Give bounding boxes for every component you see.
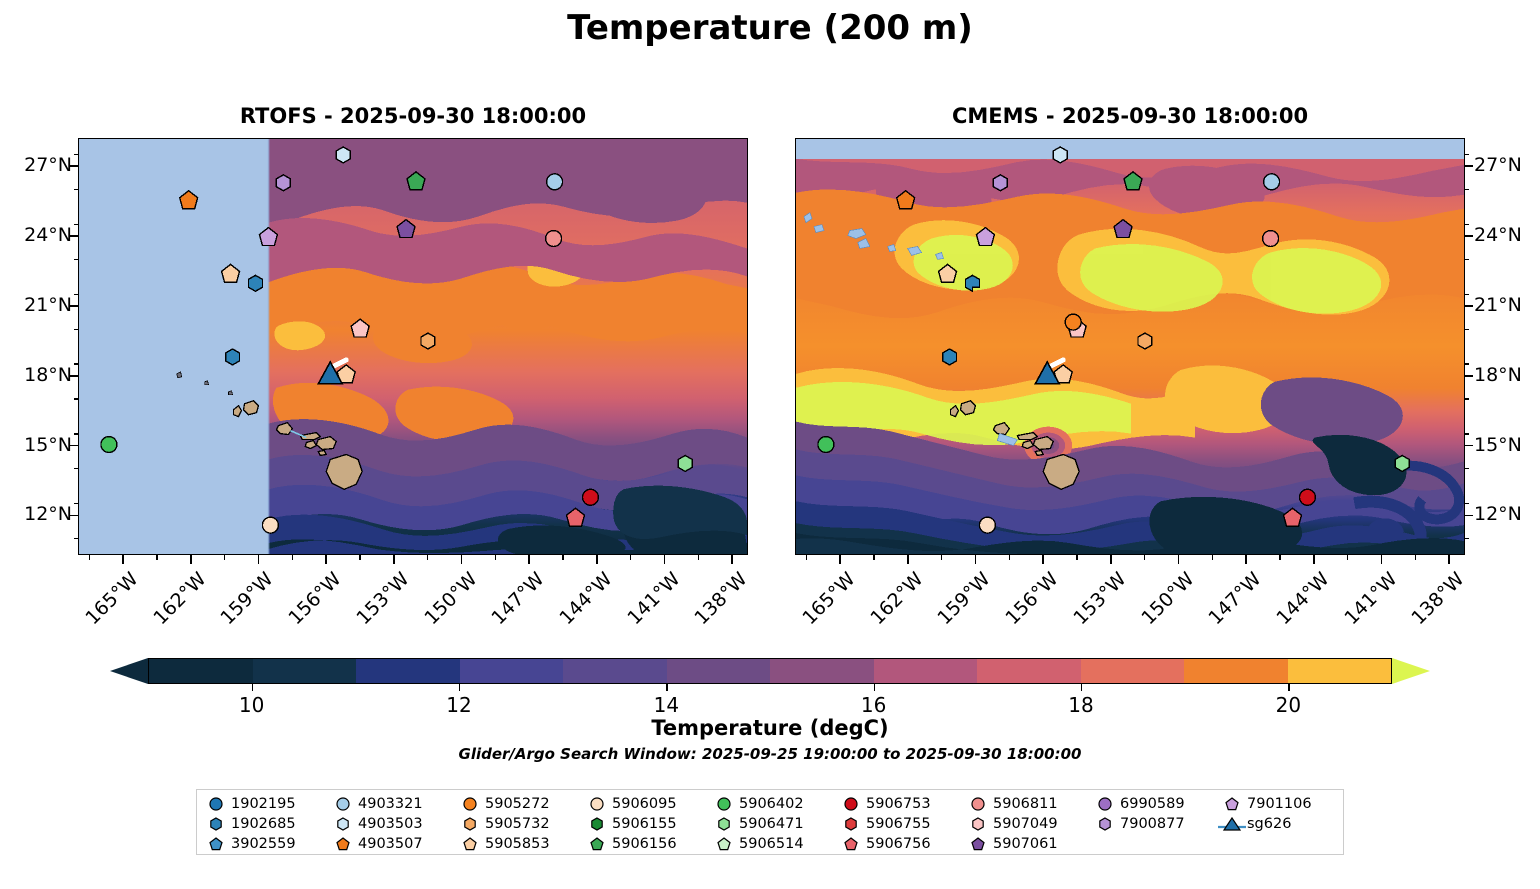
colorbar-over-arrow [1392, 658, 1430, 684]
legend-item-5905853[interactable]: 5905853 [455, 834, 582, 854]
rtofs-field [79, 139, 747, 554]
legend-marker-hexagon-icon [709, 814, 739, 834]
marker-5905732 [421, 333, 435, 349]
marker-5906811 [1263, 231, 1279, 247]
legend-label-5906514: 5906514 [739, 836, 804, 852]
colorbar-tick-1 [459, 684, 460, 691]
legend-label-5906402: 5906402 [739, 796, 804, 812]
ytick-minor-r [1465, 224, 1469, 225]
xtick-label-1-3: 156°W [976, 568, 1062, 654]
legend-marker-pentagon-icon [582, 834, 612, 854]
colorbar-band-4 [563, 659, 667, 683]
legend-item-empty [1217, 834, 1344, 854]
xtick-label-0-4: 153°W [327, 568, 413, 654]
xtick-1-1 [907, 555, 909, 564]
marker-5906095 [262, 517, 278, 533]
map-panel-cmems[interactable] [795, 138, 1465, 555]
colorbar-band-10 [1184, 659, 1288, 683]
legend-item-5906095[interactable]: 5906095 [582, 794, 709, 814]
cmems-nodata-strip [796, 139, 1464, 159]
map-panel-rtofs[interactable] [78, 138, 748, 555]
xtick-minor [1009, 555, 1010, 560]
xtick-label-0-3: 156°W [259, 568, 345, 654]
legend-label-3902559: 3902559 [231, 836, 296, 852]
legend-grid: 1902195490332159052725906095590640259067… [201, 794, 1344, 854]
ytick-left-5 [70, 515, 78, 517]
xtick-minor [1246, 555, 1247, 560]
legend-label-5906755: 5906755 [866, 816, 931, 832]
legend-item-sg626[interactable]: sg626 [1217, 814, 1344, 834]
xtick-0-7 [596, 555, 598, 564]
legend-item-5906155[interactable]: 5906155 [582, 814, 709, 834]
legend-label-5906156: 5906156 [612, 836, 677, 852]
xtick-minor [732, 555, 733, 560]
legend-marker-pentagon-icon [836, 834, 866, 854]
xtick-minor [495, 555, 496, 560]
legend-item-6990589[interactable]: 6990589 [1090, 794, 1217, 814]
marker-5905272 [1065, 314, 1081, 330]
xtick-minor [630, 555, 631, 560]
ytick-right-0 [1465, 165, 1473, 167]
legend-label-4903507: 4903507 [358, 836, 423, 852]
marker-7900877 [276, 175, 290, 191]
ytick-minor-r [1465, 398, 1469, 399]
ytick-label-right-2: 21°N [1474, 294, 1540, 316]
colorbar-tick-5 [1288, 684, 1289, 691]
legend-marker-circle-icon [963, 794, 993, 814]
xtick-1-0 [839, 555, 841, 564]
xtick-minor [393, 555, 394, 560]
legend-item-5906755[interactable]: 5906755 [836, 814, 963, 834]
legend-marker-circle-icon [201, 794, 231, 814]
xtick-label-0-6: 147°W [462, 568, 548, 654]
legend-item-5906811[interactable]: 5906811 [963, 794, 1090, 814]
ytick-right-2 [1465, 305, 1473, 307]
legend-label-5907049: 5907049 [993, 816, 1058, 832]
marker-1902195 [226, 349, 240, 365]
ytick-right-4 [1465, 445, 1473, 447]
legend-marker-pentagon-icon [1217, 794, 1247, 814]
xtick-label-0-9: 138°W [665, 568, 751, 654]
colorbar-tick-label-3: 16 [844, 693, 904, 717]
colorbar-band-6 [770, 659, 874, 683]
legend-label-7900877: 7900877 [1120, 816, 1185, 832]
legend-item-empty [1090, 834, 1217, 854]
float-legend[interactable]: 1902195490332159052725906095590640259067… [196, 789, 1344, 855]
xtick-minor [907, 555, 908, 560]
marker-5906753 [1299, 489, 1315, 505]
ytick-label-left-4: 15°N [0, 434, 72, 456]
legend-label-1902685: 1902685 [231, 816, 296, 832]
ytick-minor-r [1465, 154, 1469, 155]
legend-item-5906753[interactable]: 5906753 [836, 794, 963, 814]
xtick-label-0-1: 162°W [124, 568, 210, 654]
ytick-minor-r [1465, 329, 1469, 330]
xtick-0-8 [664, 555, 666, 564]
xtick-minor [359, 555, 360, 560]
xtick-minor [1415, 555, 1416, 560]
xtick-minor [89, 555, 90, 560]
xtick-minor [1313, 555, 1314, 560]
ytick-label-left-3: 18°N [0, 364, 72, 386]
ytick-label-right-4: 15°N [1474, 434, 1540, 456]
xtick-0-0 [122, 555, 124, 564]
ytick-left-4 [70, 445, 78, 447]
ytick-label-right-1: 24°N [1474, 224, 1540, 246]
legend-marker-hexagon-icon [455, 814, 485, 834]
marker-5906095 [979, 517, 995, 533]
search-window-caption: Glider/Argo Search Window: 2025-09-25 19… [0, 745, 1540, 763]
colorbar-band-5 [667, 659, 771, 683]
xtick-minor [1043, 555, 1044, 560]
legend-marker-hexagon-icon [1090, 814, 1120, 834]
legend-item-7901106[interactable]: 7901106 [1217, 794, 1344, 814]
xtick-label-0-8: 141°W [598, 568, 684, 654]
xtick-minor [258, 555, 259, 560]
legend-item-5906514[interactable]: 5906514 [709, 834, 836, 854]
ytick-minor-r [1465, 363, 1469, 364]
marker-1902685 [248, 275, 262, 291]
xtick-1-2 [975, 555, 977, 564]
cmems-field [796, 139, 1464, 554]
figure-title: Temperature (200 m) [0, 8, 1540, 48]
ytick-minor-r [1465, 433, 1469, 434]
xtick-label-1-9: 138°W [1382, 568, 1468, 654]
legend-marker-hexagon-icon [582, 814, 612, 834]
xtick-label-1-2: 159°W [909, 568, 995, 654]
legend-marker-circle-icon [582, 794, 612, 814]
ytick-minor-r [1465, 189, 1469, 190]
ytick-right-1 [1465, 235, 1473, 237]
ytick-label-left-2: 21°N [0, 294, 72, 316]
xtick-label-1-4: 153°W [1044, 568, 1130, 654]
xtick-label-0-0: 165°W [56, 568, 142, 654]
xtick-minor [975, 555, 976, 560]
legend-marker-hexagon-icon [836, 814, 866, 834]
legend-item-4903321[interactable]: 4903321 [328, 794, 455, 814]
xtick-minor [224, 555, 225, 560]
xtick-minor [1178, 555, 1179, 560]
xtick-minor [427, 555, 428, 560]
legend-label-1902195: 1902195 [231, 796, 296, 812]
legend-label-4903503: 4903503 [358, 816, 423, 832]
xtick-1-9 [1448, 555, 1450, 564]
legend-item-5906756[interactable]: 5906756 [836, 834, 963, 854]
xtick-minor [806, 555, 807, 560]
xtick-minor [698, 555, 699, 560]
legend-marker-pentagon-icon [709, 834, 739, 854]
legend-label-5906753: 5906753 [866, 796, 931, 812]
xtick-minor [873, 555, 874, 560]
ytick-left-3 [70, 375, 78, 377]
legend-marker-hexagon-icon [328, 814, 358, 834]
colorbar-band-9 [1081, 659, 1185, 683]
colorbar-bands [148, 658, 1392, 684]
legend-marker-pentagon-icon [963, 834, 993, 854]
xtick-label-1-7: 144°W [1247, 568, 1333, 654]
ytick-label-right-3: 18°N [1474, 364, 1540, 386]
xtick-label-0-5: 150°W [395, 568, 481, 654]
legend-label-7901106: 7901106 [1247, 796, 1312, 812]
xtick-0-5 [461, 555, 463, 564]
xtick-minor [664, 555, 665, 560]
xtick-minor [840, 555, 841, 560]
xtick-minor [562, 555, 563, 560]
legend-marker-circle-icon [709, 794, 739, 814]
marker-1902195 [943, 349, 957, 365]
marker-5906753 [582, 489, 598, 505]
colorbar-band-7 [874, 659, 978, 683]
legend-item-5905732[interactable]: 5905732 [455, 814, 582, 834]
xtick-label-1-5: 150°W [1112, 568, 1198, 654]
xtick-label-0-2: 159°W [192, 568, 278, 654]
colorbar-band-8 [977, 659, 1081, 683]
marker-7900877 [993, 175, 1007, 191]
marker-4903321 [1264, 174, 1280, 190]
legend-marker-pentagon-icon [201, 834, 231, 854]
xtick-0-9 [731, 555, 733, 564]
legend-item-5906156[interactable]: 5906156 [582, 834, 709, 854]
legend-label-5906756: 5906756 [866, 836, 931, 852]
marker-5906471 [1395, 455, 1409, 471]
marker-5906471 [678, 455, 692, 471]
ytick-left-2 [70, 305, 78, 307]
xtick-minor [1347, 555, 1348, 560]
xtick-label-1-1: 162°W [841, 568, 927, 654]
ytick-minor-r [1465, 259, 1469, 260]
colorbar-under-arrow [110, 658, 148, 684]
legend-item-4903503[interactable]: 4903503 [328, 814, 455, 834]
ytick-label-right-5: 12°N [1474, 503, 1540, 525]
xtick-minor [326, 555, 327, 560]
ytick-left-0 [70, 165, 78, 167]
ytick-label-left-1: 24°N [0, 224, 72, 246]
colorbar-tick-4 [1081, 684, 1082, 691]
colorbar-band-11 [1288, 659, 1392, 683]
legend-marker-pentagon-icon [328, 834, 358, 854]
ytick-minor-r [1465, 294, 1469, 295]
legend-item-1902685[interactable]: 1902685 [201, 814, 328, 834]
ytick-label-left-5: 12°N [0, 503, 72, 525]
xtick-label-0-7: 144°W [530, 568, 616, 654]
xtick-label-1-6: 147°W [1179, 568, 1265, 654]
legend-item-5907061[interactable]: 5907061 [963, 834, 1090, 854]
colorbar-tick-3 [874, 684, 875, 691]
legend-item-5907049[interactable]: 5907049 [963, 814, 1090, 834]
xtick-minor [1212, 555, 1213, 560]
xtick-0-2 [258, 555, 260, 564]
xtick-1-4 [1110, 555, 1112, 564]
legend-label-5905853: 5905853 [485, 836, 550, 852]
marker-4903503 [1053, 147, 1067, 163]
legend-item-5905272[interactable]: 5905272 [455, 794, 582, 814]
legend-label-5906471: 5906471 [739, 816, 804, 832]
xtick-minor [461, 555, 462, 560]
xtick-minor [123, 555, 124, 560]
colorbar-tick-label-5: 20 [1258, 693, 1318, 717]
panel-title-rtofs: RTOFS - 2025-09-30 18:00:00 [78, 104, 748, 128]
xtick-minor [1110, 555, 1111, 560]
marker-5906811 [546, 231, 562, 247]
legend-marker-circle-icon [455, 794, 485, 814]
xtick-label-1-0: 165°W [773, 568, 859, 654]
legend-marker-hexagon-icon [963, 814, 993, 834]
legend-item-3902559[interactable]: 3902559 [201, 834, 328, 854]
ytick-label-left-0: 27°N [0, 154, 72, 176]
xtick-minor [292, 555, 293, 560]
xtick-minor [156, 555, 157, 560]
colorbar-tick-label-0: 10 [222, 693, 282, 717]
legend-item-5906402[interactable]: 5906402 [709, 794, 836, 814]
legend-label-4903321: 4903321 [358, 796, 423, 812]
ytick-right-5 [1465, 515, 1473, 517]
xtick-minor [1449, 555, 1450, 560]
legend-label-5905272: 5905272 [485, 796, 550, 812]
legend-label-sg626: sg626 [1247, 816, 1291, 832]
xtick-minor [529, 555, 530, 560]
colorbar-tick-2 [666, 684, 667, 691]
legend-marker-hexagon-icon [201, 814, 231, 834]
colorbar-tick-label-4: 18 [1051, 693, 1111, 717]
ytick-minor-r [1465, 538, 1469, 539]
legend-label-5906155: 5906155 [612, 816, 677, 832]
legend-label-5905732: 5905732 [485, 816, 550, 832]
panel-title-cmems: CMEMS - 2025-09-30 18:00:00 [795, 104, 1465, 128]
colorbar[interactable]: 101214161820 [110, 658, 1430, 684]
xtick-minor [1381, 555, 1382, 560]
colorbar-band-3 [460, 659, 564, 683]
xtick-0-1 [190, 555, 192, 564]
colorbar-tick-label-1: 12 [429, 693, 489, 717]
ytick-left-1 [70, 235, 78, 237]
xtick-1-8 [1381, 555, 1383, 564]
marker-4903503 [336, 147, 350, 163]
marker-5905732 [1138, 333, 1152, 349]
legend-item-5906471[interactable]: 5906471 [709, 814, 836, 834]
marker-5906402 [818, 437, 834, 453]
colorbar-tick-0 [252, 684, 253, 691]
legend-item-7900877[interactable]: 7900877 [1090, 814, 1217, 834]
xtick-0-3 [325, 555, 327, 564]
ytick-minor-r [1465, 503, 1469, 504]
legend-marker-circle-icon [1090, 794, 1120, 814]
colorbar-tick-label-2: 14 [636, 693, 696, 717]
legend-marker-circle-icon [836, 794, 866, 814]
xtick-label-1-8: 141°W [1315, 568, 1401, 654]
legend-label-5907061: 5907061 [993, 836, 1058, 852]
legend-marker-circle-icon [328, 794, 358, 814]
legend-item-4903507[interactable]: 4903507 [328, 834, 455, 854]
xtick-minor [190, 555, 191, 560]
ytick-label-right-0: 27°N [1474, 154, 1540, 176]
marker-4903321 [547, 174, 563, 190]
xtick-1-6 [1245, 555, 1247, 564]
legend-label-5906811: 5906811 [993, 796, 1058, 812]
legend-marker-pentagon-icon [455, 834, 485, 854]
legend-label-6990589: 6990589 [1120, 796, 1185, 812]
colorbar-band-2 [356, 659, 460, 683]
xtick-0-6 [528, 555, 530, 564]
legend-marker-triangle-icon [1217, 814, 1247, 834]
ytick-right-3 [1465, 375, 1473, 377]
colorbar-band-1 [253, 659, 357, 683]
xtick-minor [1144, 555, 1145, 560]
xtick-minor [941, 555, 942, 560]
xtick-minor [1279, 555, 1280, 560]
xtick-minor [1076, 555, 1077, 560]
xtick-1-5 [1178, 555, 1180, 564]
colorbar-band-0 [149, 659, 253, 683]
marker-5906402 [101, 437, 117, 453]
xtick-1-7 [1313, 555, 1315, 564]
xtick-1-3 [1042, 555, 1044, 564]
xtick-0-4 [393, 555, 395, 564]
legend-item-1902195[interactable]: 1902195 [201, 794, 328, 814]
xtick-minor [596, 555, 597, 560]
legend-label-5906095: 5906095 [612, 796, 677, 812]
colorbar-label: Temperature (degC) [0, 716, 1540, 740]
ytick-minor-r [1465, 468, 1469, 469]
